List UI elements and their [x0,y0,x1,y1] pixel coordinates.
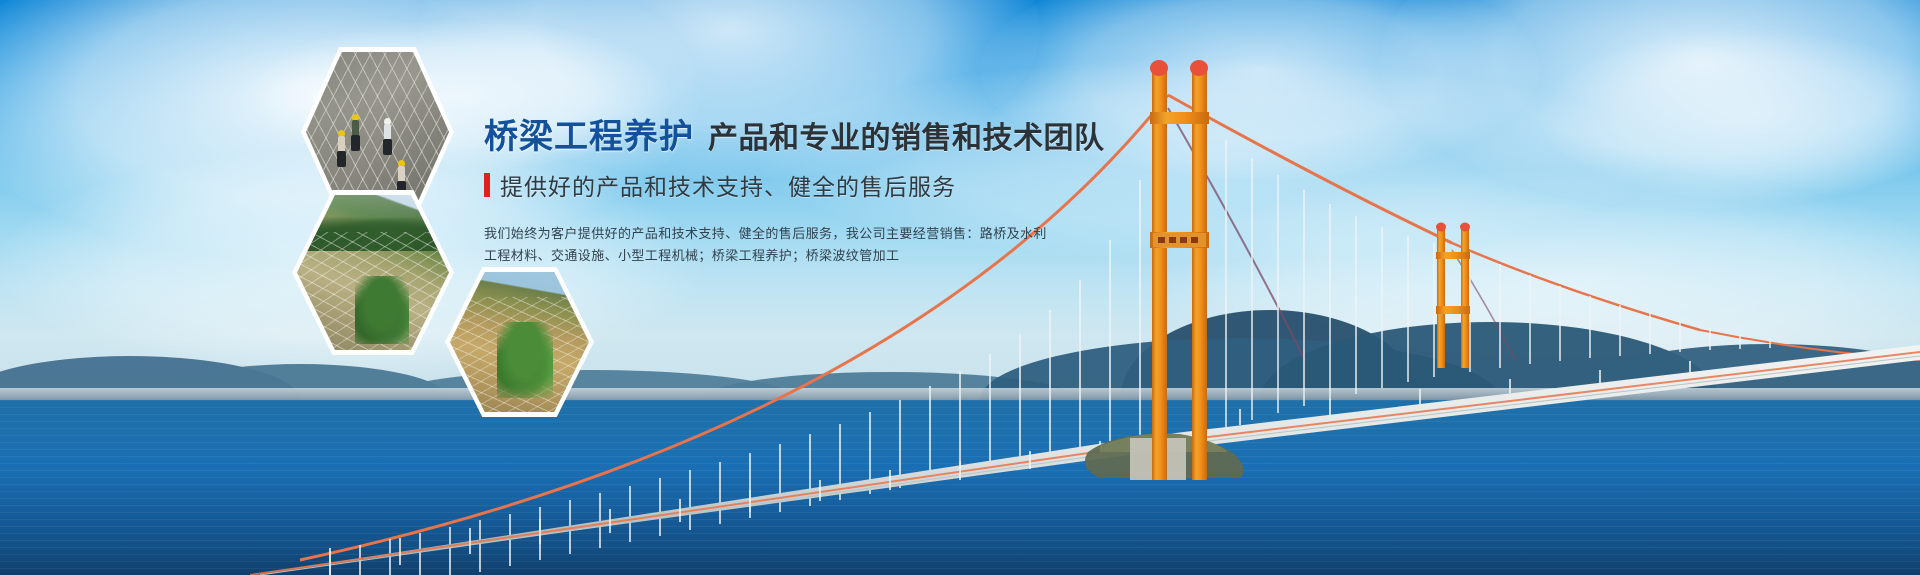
foreground-tree [355,276,410,344]
foreground-shrub [497,322,553,398]
distant-hills [0,270,1920,400]
banner-description: 我们始终为客户提供好的产品和技术支持、健全的售后服务，我公司主要经营销售：路桥及… [484,224,1124,268]
banner-subheadline: 提供好的产品和技术支持、健全的售后服务 [484,168,1124,202]
banner-copy: 桥梁工程养护产品和专业的销售和技术团队 提供好的产品和技术支持、健全的售后服务 … [484,120,1124,268]
accent-bar-icon [484,173,490,197]
hero-banner: 桥梁工程养护产品和专业的销售和技术团队 提供好的产品和技术支持、健全的售后服务 … [0,0,1920,575]
headline-rest: 产品和专业的销售和技术团队 [708,121,1105,156]
rockfall-net-overlay [306,52,449,212]
sea-background [0,400,1920,575]
photo-dry-slope [450,272,589,412]
photo-green-hillside [297,195,449,350]
headline-highlight: 桥梁工程养护 [484,117,694,157]
banner-headline: 桥梁工程养护产品和专业的销售和技术团队 [484,120,1124,154]
photo-rock-slope [306,52,449,212]
description-line: 我们始终为客户提供好的产品和技术支持、健全的售后服务，我公司主要经营销售：路桥及… [484,224,1124,246]
subheadline-text: 提供好的产品和技术支持、健全的售后服务 [500,168,956,202]
description-line: 工程材料、交通设施、小型工程机械；桥梁工程养护；桥梁波纹管加工 [484,246,1124,268]
